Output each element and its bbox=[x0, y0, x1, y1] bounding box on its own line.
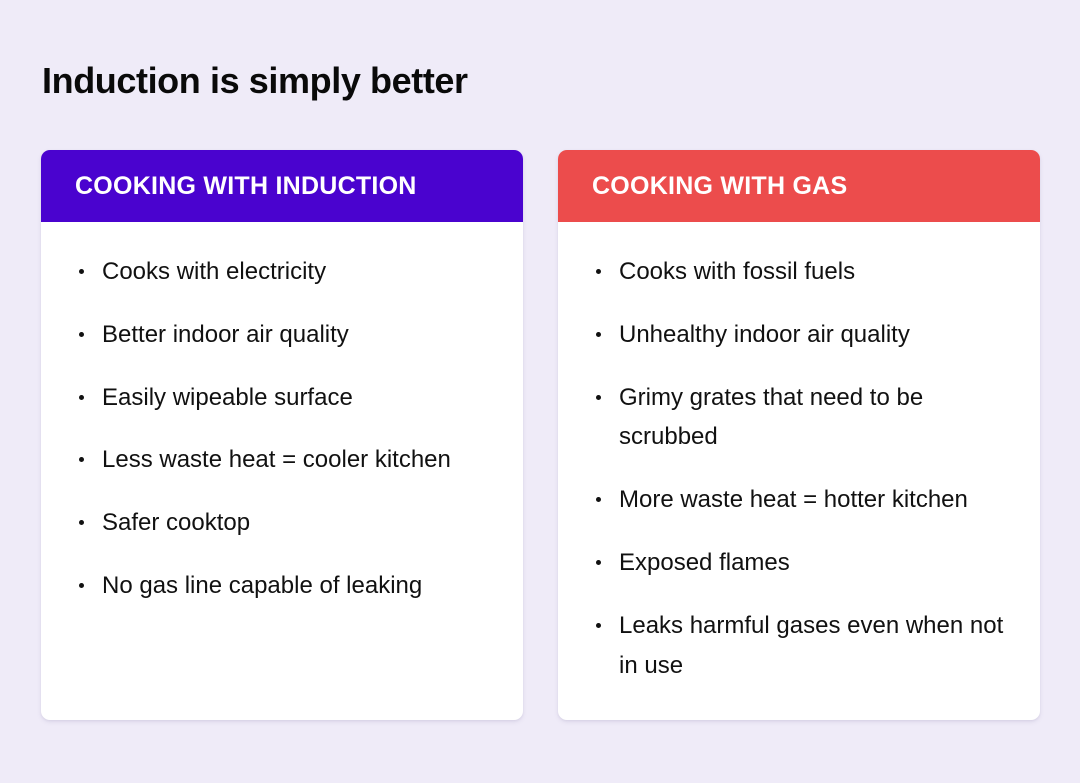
list-item: Easily wipeable surface bbox=[77, 378, 495, 418]
list-item-label: Less waste heat = cooler kitchen bbox=[102, 440, 495, 480]
bullet-dot-icon bbox=[596, 395, 601, 400]
page-title: Induction is simply better bbox=[42, 60, 468, 101]
card-body-induction: Cooks with electricity Better indoor air… bbox=[41, 222, 523, 720]
list-item-label: No gas line capable of leaking bbox=[102, 566, 495, 606]
list-item-label: Cooks with electricity bbox=[102, 252, 495, 292]
card-header-gas: COOKING WITH GAS bbox=[558, 150, 1040, 222]
list-item-label: Exposed flames bbox=[619, 543, 1012, 583]
bullet-dot-icon bbox=[79, 395, 84, 400]
bullet-dot-icon bbox=[79, 583, 84, 588]
bullet-dot-icon bbox=[596, 269, 601, 274]
bullet-dot-icon bbox=[79, 520, 84, 525]
bullet-dot-icon bbox=[596, 623, 601, 628]
bullet-list-induction: Cooks with electricity Better indoor air… bbox=[77, 252, 495, 606]
list-item: Leaks harmful gases even when not in use bbox=[594, 606, 1012, 686]
card-header-title-gas: COOKING WITH GAS bbox=[592, 174, 847, 199]
bullet-dot-icon bbox=[596, 497, 601, 502]
list-item: Exposed flames bbox=[594, 543, 1012, 583]
list-item: Unhealthy indoor air quality bbox=[594, 315, 1012, 355]
card-gas: COOKING WITH GAS Cooks with fossil fuels… bbox=[558, 150, 1040, 720]
list-item-label: Cooks with fossil fuels bbox=[619, 252, 1012, 292]
list-item: Less waste heat = cooler kitchen bbox=[77, 440, 495, 480]
bullet-dot-icon bbox=[596, 560, 601, 565]
card-induction: COOKING WITH INDUCTION Cooks with electr… bbox=[41, 150, 523, 720]
list-item-label: Leaks harmful gases even when not in use bbox=[619, 606, 1012, 686]
card-header-induction: COOKING WITH INDUCTION bbox=[41, 150, 523, 222]
list-item-label: Grimy grates that need to be scrubbed bbox=[619, 378, 1012, 458]
list-item: More waste heat = hotter kitchen bbox=[594, 480, 1012, 520]
bullet-dot-icon bbox=[79, 457, 84, 462]
bullet-list-gas: Cooks with fossil fuels Unhealthy indoor… bbox=[594, 252, 1012, 686]
list-item: Grimy grates that need to be scrubbed bbox=[594, 378, 1012, 458]
list-item-label: Safer cooktop bbox=[102, 503, 495, 543]
comparison-cards-container: COOKING WITH INDUCTION Cooks with electr… bbox=[41, 150, 1040, 720]
bullet-dot-icon bbox=[596, 332, 601, 337]
list-item: No gas line capable of leaking bbox=[77, 566, 495, 606]
list-item: Better indoor air quality bbox=[77, 315, 495, 355]
list-item-label: More waste heat = hotter kitchen bbox=[619, 480, 1012, 520]
bullet-dot-icon bbox=[79, 332, 84, 337]
list-item: Safer cooktop bbox=[77, 503, 495, 543]
list-item: Cooks with electricity bbox=[77, 252, 495, 292]
list-item-label: Easily wipeable surface bbox=[102, 378, 495, 418]
list-item-label: Unhealthy indoor air quality bbox=[619, 315, 1012, 355]
comparison-infographic: Induction is simply better COOKING WITH … bbox=[0, 0, 1080, 783]
list-item-label: Better indoor air quality bbox=[102, 315, 495, 355]
bullet-dot-icon bbox=[79, 269, 84, 274]
card-body-gas: Cooks with fossil fuels Unhealthy indoor… bbox=[558, 222, 1040, 720]
list-item: Cooks with fossil fuels bbox=[594, 252, 1012, 292]
card-header-title-induction: COOKING WITH INDUCTION bbox=[75, 174, 417, 199]
